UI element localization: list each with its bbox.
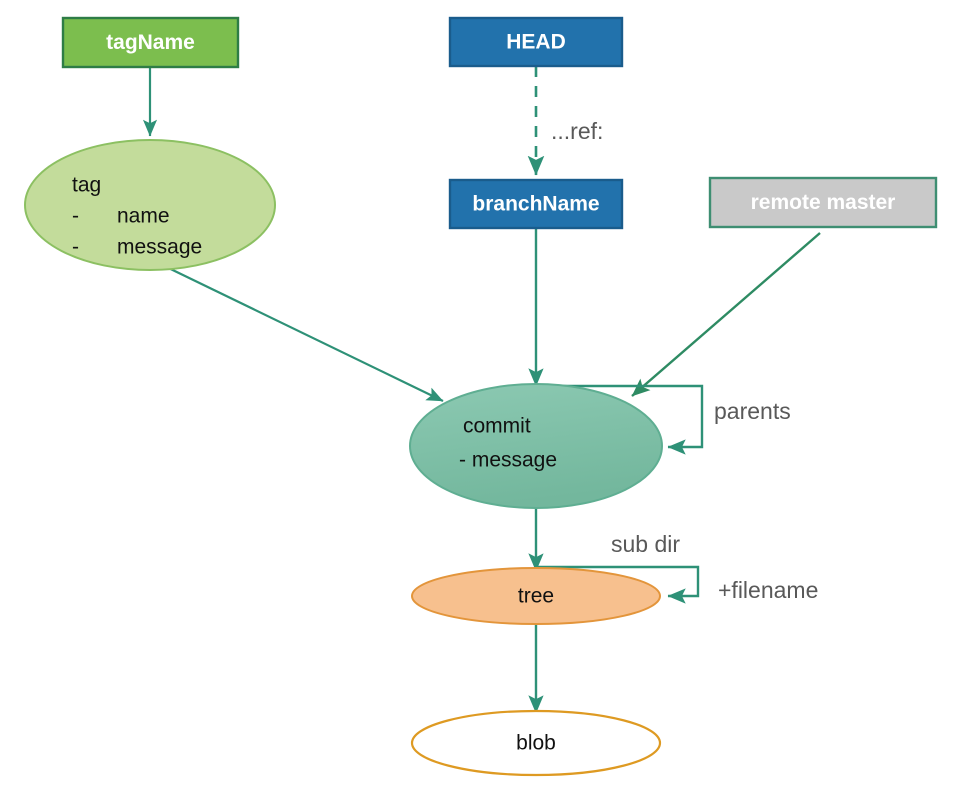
node-commit-line2: - message (459, 449, 557, 472)
node-commit-line1: commit (463, 415, 531, 438)
edge-label-filename: +filename (718, 577, 818, 603)
node-blob-label: blob (516, 732, 556, 755)
edge-tag-to-commit (152, 260, 443, 401)
node-tag-line3-bullet: - (72, 236, 79, 259)
node-tag-line1: tag (72, 174, 101, 197)
node-tag-line2: name (117, 205, 170, 228)
node-tag-line2-bullet: - (72, 205, 79, 228)
edge-label-ref: ...ref: (551, 118, 603, 144)
node-tree[interactable]: tree (412, 568, 660, 624)
node-tree-label: tree (518, 585, 554, 608)
git-object-model-diagram: tagName HEAD branchName remote master ta… (0, 0, 964, 786)
node-tag-line3: message (117, 236, 202, 259)
node-branchname-label: branchName (472, 193, 599, 216)
node-tagname[interactable]: tagName (63, 18, 238, 67)
node-tag[interactable]: tag - name - message (25, 140, 275, 270)
node-blob[interactable]: blob (412, 711, 660, 775)
node-branchname[interactable]: branchName (450, 180, 622, 228)
diagram-canvas: tagName HEAD branchName remote master ta… (0, 0, 964, 786)
edge-label-sub-dir: sub dir (611, 531, 680, 557)
node-head[interactable]: HEAD (450, 18, 622, 66)
node-head-label: HEAD (506, 31, 566, 54)
edge-label-parents: parents (714, 398, 791, 424)
node-remote-master-label: remote master (751, 191, 896, 214)
node-commit[interactable]: commit - message (410, 384, 662, 508)
node-remote-master[interactable]: remote master (710, 178, 936, 227)
node-tagname-label: tagName (106, 31, 195, 54)
edge-remotemaster-to-commit (632, 233, 820, 396)
